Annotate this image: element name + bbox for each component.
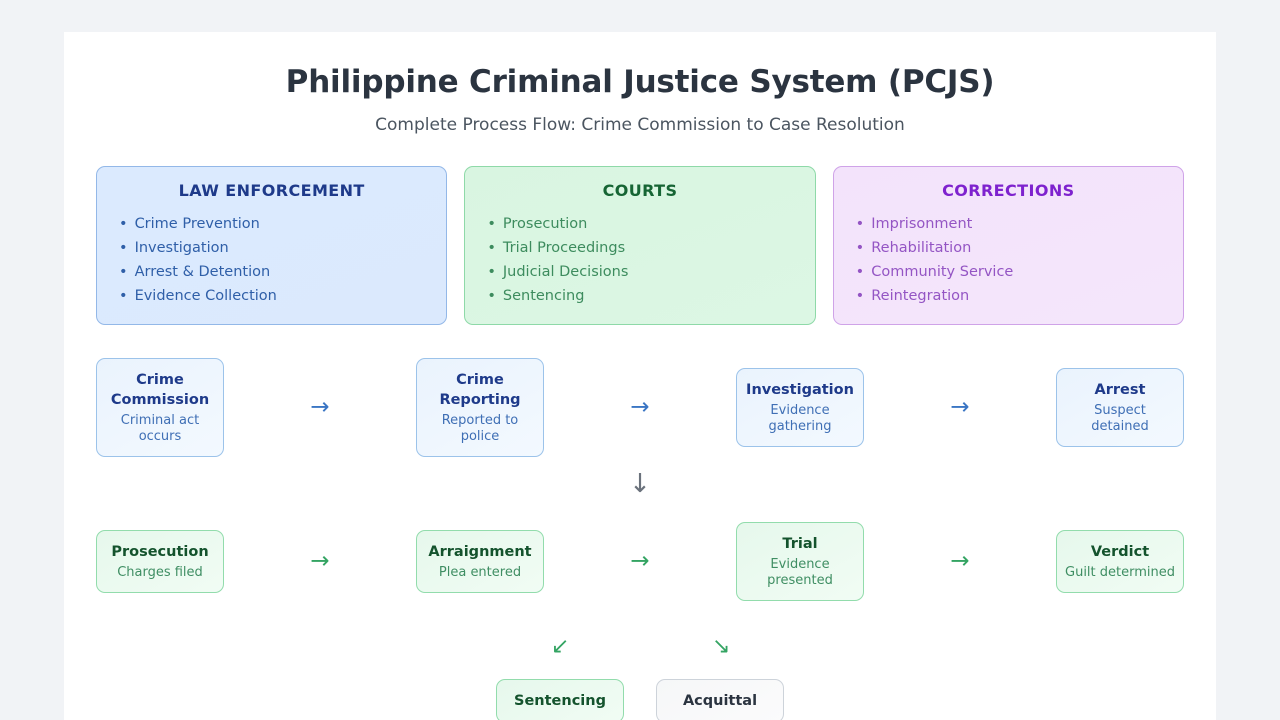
- branch-arrow-down-left-icon: ↙: [551, 636, 569, 658]
- bullet-icon: •: [856, 288, 865, 304]
- pillar-list: •Prosecution •Trial Proceedings •Judicia…: [481, 212, 798, 308]
- step-slot: Prosecution Charges filed: [96, 530, 224, 593]
- step-slot: Crime Commission Criminal act occurs: [96, 358, 224, 457]
- bullet-icon: •: [487, 216, 496, 232]
- list-item: •Rehabilitation: [850, 236, 1167, 260]
- pillar-list: •Crime Prevention •Investigation •Arrest…: [113, 212, 430, 308]
- flow-step-investigation[interactable]: Investigation Evidence gathering: [736, 368, 864, 447]
- list-item-label: Prosecution: [503, 216, 587, 232]
- step-title: Sentencing: [505, 691, 615, 711]
- step-slot: Investigation Evidence gathering: [736, 368, 864, 447]
- flow-arrow-right-icon: →: [864, 396, 1056, 419]
- bullet-icon: •: [856, 264, 865, 280]
- bullet-icon: •: [856, 240, 865, 256]
- step-title: Crime Commission: [105, 370, 215, 410]
- step-description: Guilt determined: [1065, 565, 1175, 581]
- flow-step-sentencing[interactable]: Sentencing: [496, 679, 624, 720]
- page-title: Philippine Criminal Justice System (PCJS…: [64, 64, 1216, 100]
- pillars-section: LAW ENFORCEMENT •Crime Prevention •Inves…: [96, 166, 1184, 325]
- flow-step-crime-reporting[interactable]: Crime Reporting Reported to police: [416, 358, 544, 457]
- list-item-label: Rehabilitation: [871, 240, 971, 256]
- step-title: Prosecution: [105, 542, 215, 562]
- branch-outcomes: Sentencing Acquittal: [64, 679, 1216, 720]
- step-slot: Arraignment Plea entered: [416, 530, 544, 593]
- step-title: Crime Reporting: [425, 370, 535, 410]
- step-description: Evidence gathering: [745, 403, 855, 435]
- list-item: •Community Service: [850, 260, 1167, 284]
- list-item-label: Community Service: [871, 264, 1013, 280]
- pillar-law-enforcement[interactable]: LAW ENFORCEMENT •Crime Prevention •Inves…: [96, 166, 447, 325]
- flow-step-prosecution[interactable]: Prosecution Charges filed: [96, 530, 224, 593]
- step-description: Reported to police: [425, 413, 535, 445]
- step-description: Suspect detained: [1065, 403, 1175, 435]
- branch-arrow-down-right-icon: ↘: [712, 636, 730, 658]
- list-item: •Crime Prevention: [113, 212, 430, 236]
- flow-step-arrest[interactable]: Arrest Suspect detained: [1056, 368, 1184, 447]
- step-title: Arraignment: [425, 542, 535, 562]
- step-description: Criminal act occurs: [105, 413, 215, 445]
- pillar-title: CORRECTIONS: [850, 181, 1167, 200]
- list-item: •Trial Proceedings: [481, 236, 798, 260]
- list-item-label: Evidence Collection: [135, 288, 277, 304]
- page-subtitle: Complete Process Flow: Crime Commission …: [64, 115, 1216, 135]
- list-item: •Investigation: [113, 236, 430, 260]
- diagram-card: Philippine Criminal Justice System (PCJS…: [64, 32, 1216, 720]
- flow-arrow-down-icon: ↓: [64, 471, 1216, 505]
- pillar-corrections[interactable]: CORRECTIONS •Imprisonment •Rehabilitatio…: [833, 166, 1184, 325]
- step-description: Plea entered: [425, 565, 535, 581]
- step-title: Arrest: [1065, 380, 1175, 400]
- pillar-title: COURTS: [481, 181, 798, 200]
- list-item-label: Judicial Decisions: [503, 264, 629, 280]
- step-description: Charges filed: [105, 565, 215, 581]
- bullet-icon: •: [119, 264, 128, 280]
- flow-arrow-right-icon: →: [224, 396, 416, 419]
- bullet-icon: •: [119, 216, 128, 232]
- step-slot: Trial Evidence presented: [736, 522, 864, 601]
- list-item-label: Crime Prevention: [135, 216, 260, 232]
- list-item: •Evidence Collection: [113, 284, 430, 308]
- step-slot: Verdict Guilt determined: [1056, 530, 1184, 593]
- list-item: •Judicial Decisions: [481, 260, 798, 284]
- flow-step-verdict[interactable]: Verdict Guilt determined: [1056, 530, 1184, 593]
- list-item: •Reintegration: [850, 284, 1167, 308]
- step-title: Verdict: [1065, 542, 1175, 562]
- list-item-label: Arrest & Detention: [135, 264, 271, 280]
- flow-arrow-right-icon: →: [224, 550, 416, 573]
- flow-arrow-right-icon: →: [864, 550, 1056, 573]
- step-title: Trial: [745, 534, 855, 554]
- list-item-label: Imprisonment: [871, 216, 972, 232]
- pillar-courts[interactable]: COURTS •Prosecution •Trial Proceedings •…: [464, 166, 815, 325]
- pillar-list: •Imprisonment •Rehabilitation •Community…: [850, 212, 1167, 308]
- flow-step-crime-commission[interactable]: Crime Commission Criminal act occurs: [96, 358, 224, 457]
- branch-arrows: ↙ ↘: [64, 636, 1216, 670]
- list-item-label: Investigation: [135, 240, 229, 256]
- step-description: Evidence presented: [745, 557, 855, 589]
- list-item: •Sentencing: [481, 284, 798, 308]
- list-item: •Arrest & Detention: [113, 260, 430, 284]
- step-slot: Crime Reporting Reported to police: [416, 358, 544, 457]
- step-title: Acquittal: [665, 691, 775, 711]
- step-title: Investigation: [745, 380, 855, 400]
- flow-arrow-right-icon: →: [544, 396, 736, 419]
- flow-row-1: Crime Commission Criminal act occurs → C…: [96, 351, 1184, 463]
- bullet-icon: •: [487, 288, 496, 304]
- list-item-label: Sentencing: [503, 288, 585, 304]
- pillar-title: LAW ENFORCEMENT: [113, 181, 430, 200]
- list-item-label: Reintegration: [871, 288, 969, 304]
- step-slot: Arrest Suspect detained: [1056, 368, 1184, 447]
- bullet-icon: •: [119, 240, 128, 256]
- list-item-label: Trial Proceedings: [503, 240, 625, 256]
- flow-step-trial[interactable]: Trial Evidence presented: [736, 522, 864, 601]
- flow-step-arraignment[interactable]: Arraignment Plea entered: [416, 530, 544, 593]
- flow-step-acquittal[interactable]: Acquittal: [656, 679, 784, 720]
- flow-row-2: Prosecution Charges filed → Arraignment …: [96, 505, 1184, 617]
- list-item: •Imprisonment: [850, 212, 1167, 236]
- bullet-icon: •: [487, 240, 496, 256]
- bullet-icon: •: [487, 264, 496, 280]
- list-item: •Prosecution: [481, 212, 798, 236]
- flow-arrow-right-icon: →: [544, 550, 736, 573]
- bullet-icon: •: [119, 288, 128, 304]
- bullet-icon: •: [856, 216, 865, 232]
